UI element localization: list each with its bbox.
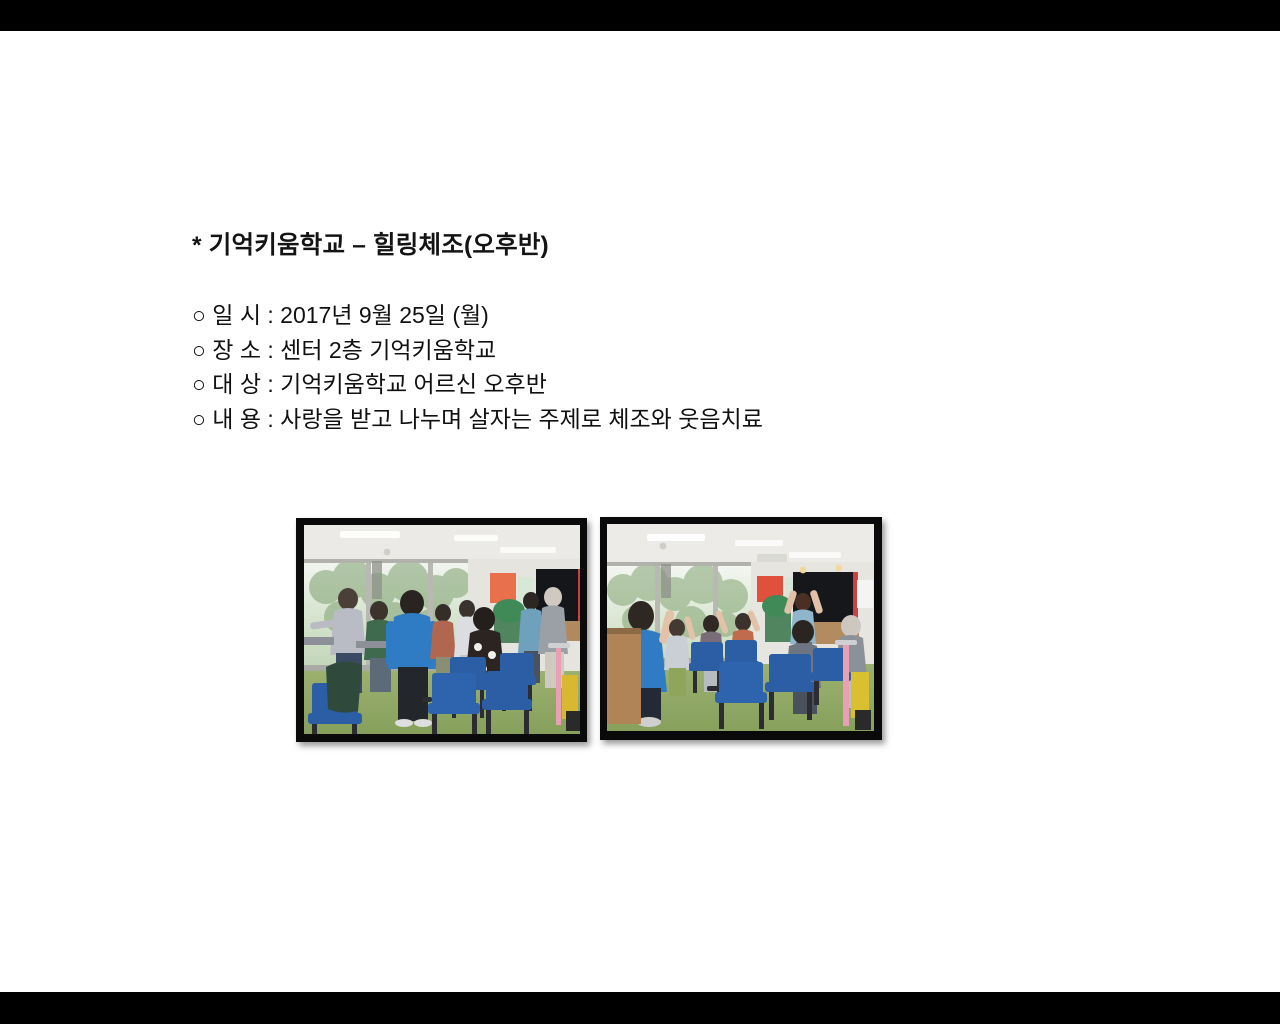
photo-right-image <box>607 524 874 731</box>
page-title: * 기억키움학교 – 힐링체조(오후반) <box>192 231 1192 260</box>
photo-left-image <box>304 525 580 734</box>
slide-stage: * 기억키움학교 – 힐링체조(오후반) ○ 일 시 : 2017년 9월 25… <box>0 0 1280 1024</box>
photo-row <box>0 31 1280 992</box>
text-block: * 기억키움학교 – 힐링체조(오후반) ○ 일 시 : 2017년 9월 25… <box>192 231 1192 436</box>
detail-line-content: ○ 내 용 : 사랑을 받고 나누며 살자는 주제로 체조와 웃음치료 <box>192 402 1192 437</box>
letterbox-top <box>0 0 1280 31</box>
slide-canvas: * 기억키움학교 – 힐링체조(오후반) ○ 일 시 : 2017년 9월 25… <box>0 31 1280 992</box>
detail-line-target: ○ 대 상 : 기억키움학교 어르신 오후반 <box>192 367 1192 402</box>
photo-left-frame[interactable] <box>296 518 587 742</box>
detail-line-place: ○ 장 소 : 센터 2층 기억키움학교 <box>192 333 1192 368</box>
letterbox-bottom <box>0 992 1280 1024</box>
classroom-standing-scene <box>304 525 580 734</box>
classroom-seated-scene <box>607 524 874 731</box>
detail-line-date: ○ 일 시 : 2017년 9월 25일 (월) <box>192 298 1192 333</box>
photo-right-frame[interactable] <box>600 517 882 740</box>
